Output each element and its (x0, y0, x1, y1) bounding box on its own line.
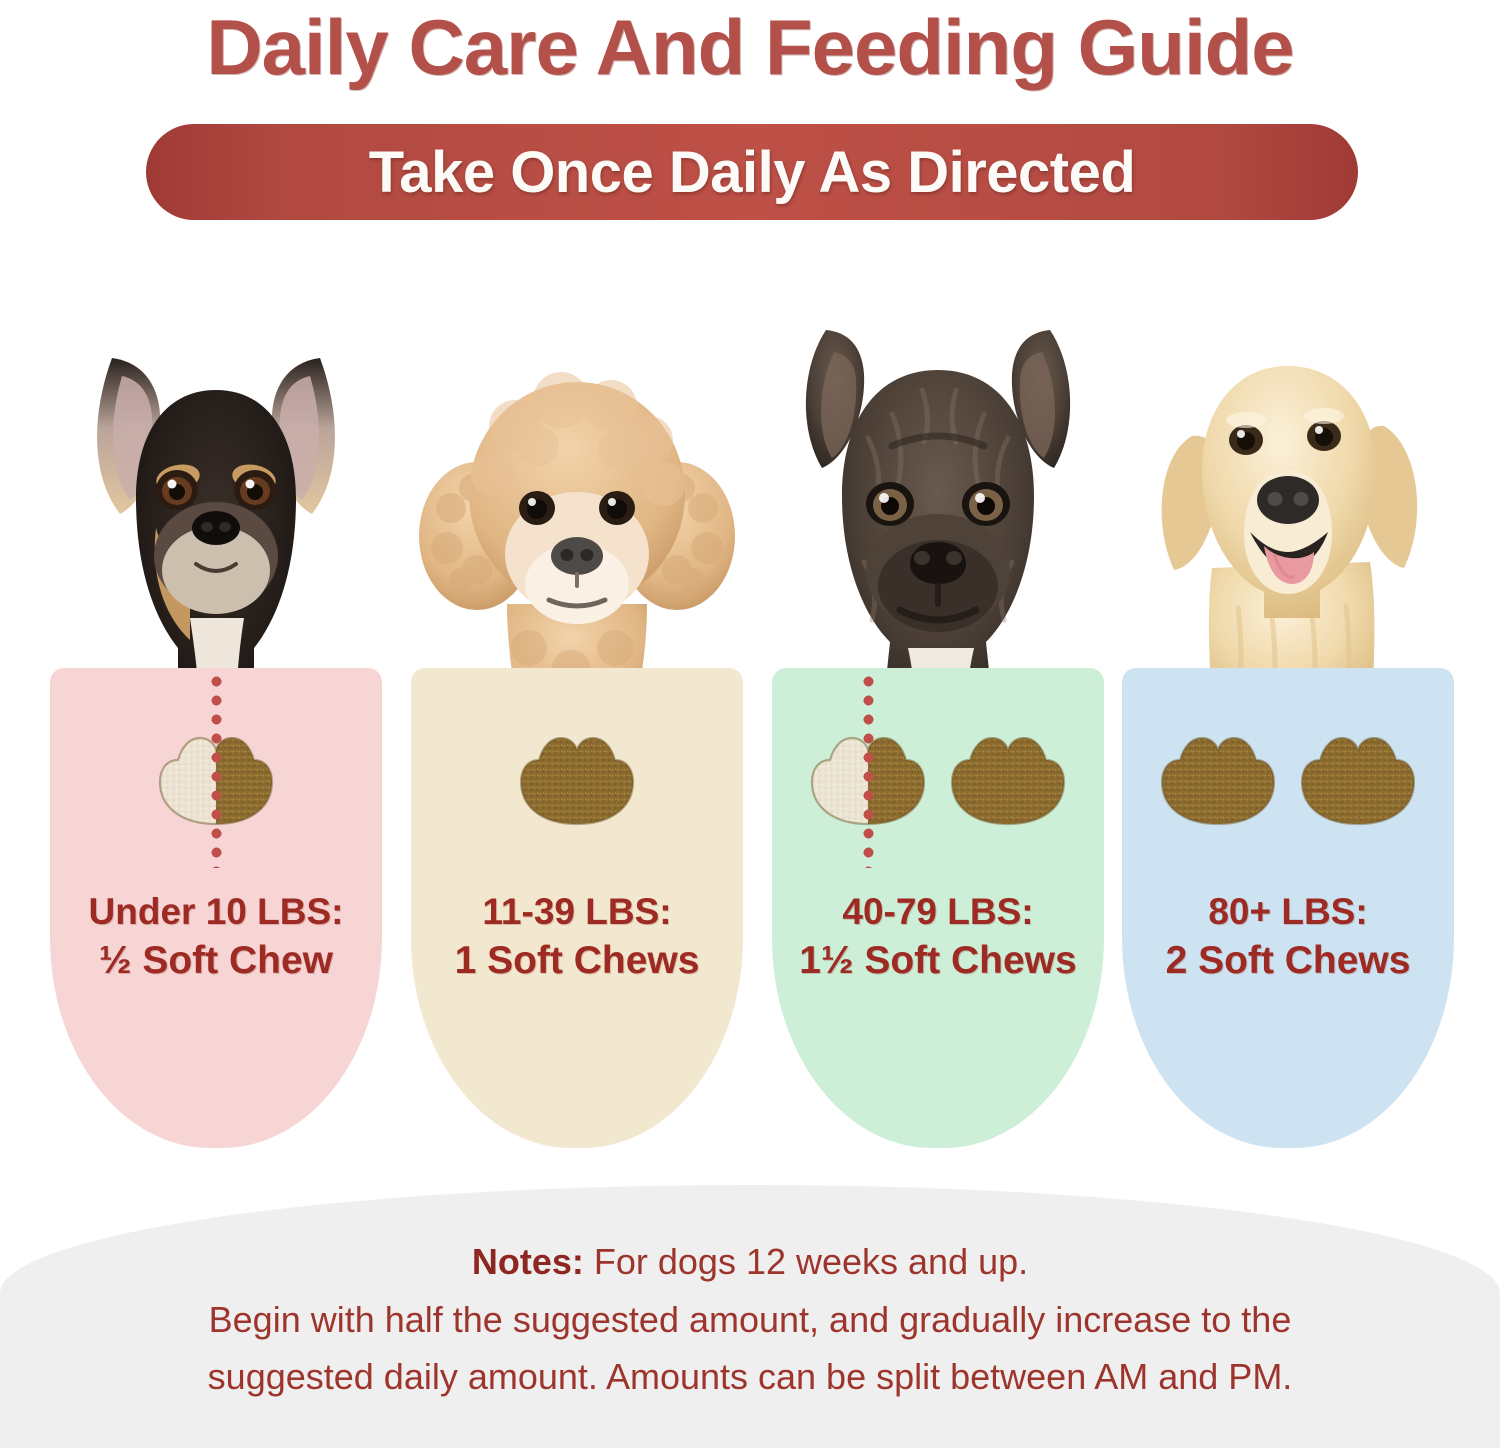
dosage-labels-4: 80+ LBS: 2 Soft Chews (1122, 888, 1454, 987)
dose-label: 1 Soft Chews (411, 936, 743, 987)
notes-text: Notes: For dogs 12 weeks and up. Begin w… (0, 1233, 1500, 1406)
soft-chew-full (1296, 708, 1420, 832)
soft-chew-half (806, 708, 930, 832)
notes-label: Notes: (472, 1241, 584, 1282)
dosage-card-80-plus-lbs: 80+ LBS: 2 Soft Chews (1122, 318, 1472, 1178)
dosage-labels-3: 40-79 LBS: 1½ Soft Chews (772, 888, 1104, 987)
dosage-card-row: Under 10 LBS: ½ Soft Chew (0, 318, 1500, 1178)
notes-line-2: Begin with half the suggested amount, an… (60, 1291, 1440, 1349)
dog-photo-french-bulldog (772, 318, 1104, 718)
chew-row-4 (1122, 690, 1454, 850)
half-divider-dotted-line (211, 672, 222, 868)
page-title: Daily Care And Feeding Guide (0, 2, 1500, 93)
chew-row-2 (411, 690, 743, 850)
weight-range-label: 11-39 LBS: (411, 888, 743, 936)
dose-label: ½ Soft Chew (50, 936, 382, 987)
soft-chew-half (154, 708, 278, 832)
dog-photo-poodle (411, 318, 743, 718)
dosage-card-under-10-lbs: Under 10 LBS: ½ Soft Chew (50, 318, 400, 1178)
notes-panel: Notes: For dogs 12 weeks and up. Begin w… (0, 1185, 1500, 1448)
dog-photo-chihuahua (50, 318, 382, 718)
dog-photo-golden-retriever (1122, 318, 1454, 718)
chew-row-1 (50, 690, 382, 850)
dose-label: 1½ Soft Chews (772, 936, 1104, 987)
dosage-card-40-79-lbs: 40-79 LBS: 1½ Soft Chews (772, 318, 1122, 1178)
dosage-labels-2: 11-39 LBS: 1 Soft Chews (411, 888, 743, 987)
dosage-labels-1: Under 10 LBS: ½ Soft Chew (50, 888, 382, 987)
chew-row-3 (772, 690, 1104, 850)
dose-label: 2 Soft Chews (1122, 936, 1454, 987)
notes-line-1: Notes: For dogs 12 weeks and up. (60, 1233, 1440, 1291)
weight-range-label: 80+ LBS: (1122, 888, 1454, 936)
directions-banner: Take Once Daily As Directed (146, 124, 1358, 220)
directions-banner-text: Take Once Daily As Directed (369, 139, 1136, 206)
dosage-card-11-39-lbs: 11-39 LBS: 1 Soft Chews (411, 318, 761, 1178)
feeding-guide-infographic: Daily Care And Feeding Guide Take Once D… (0, 0, 1500, 1448)
half-divider-dotted-line (863, 672, 874, 868)
weight-range-label: Under 10 LBS: (50, 888, 382, 936)
soft-chew-full (1156, 708, 1280, 832)
soft-chew-full (946, 708, 1070, 832)
notes-line-1-text: For dogs 12 weeks and up. (594, 1241, 1028, 1282)
soft-chew-full (515, 708, 639, 832)
weight-range-label: 40-79 LBS: (772, 888, 1104, 936)
notes-line-3: suggested daily amount. Amounts can be s… (60, 1348, 1440, 1406)
